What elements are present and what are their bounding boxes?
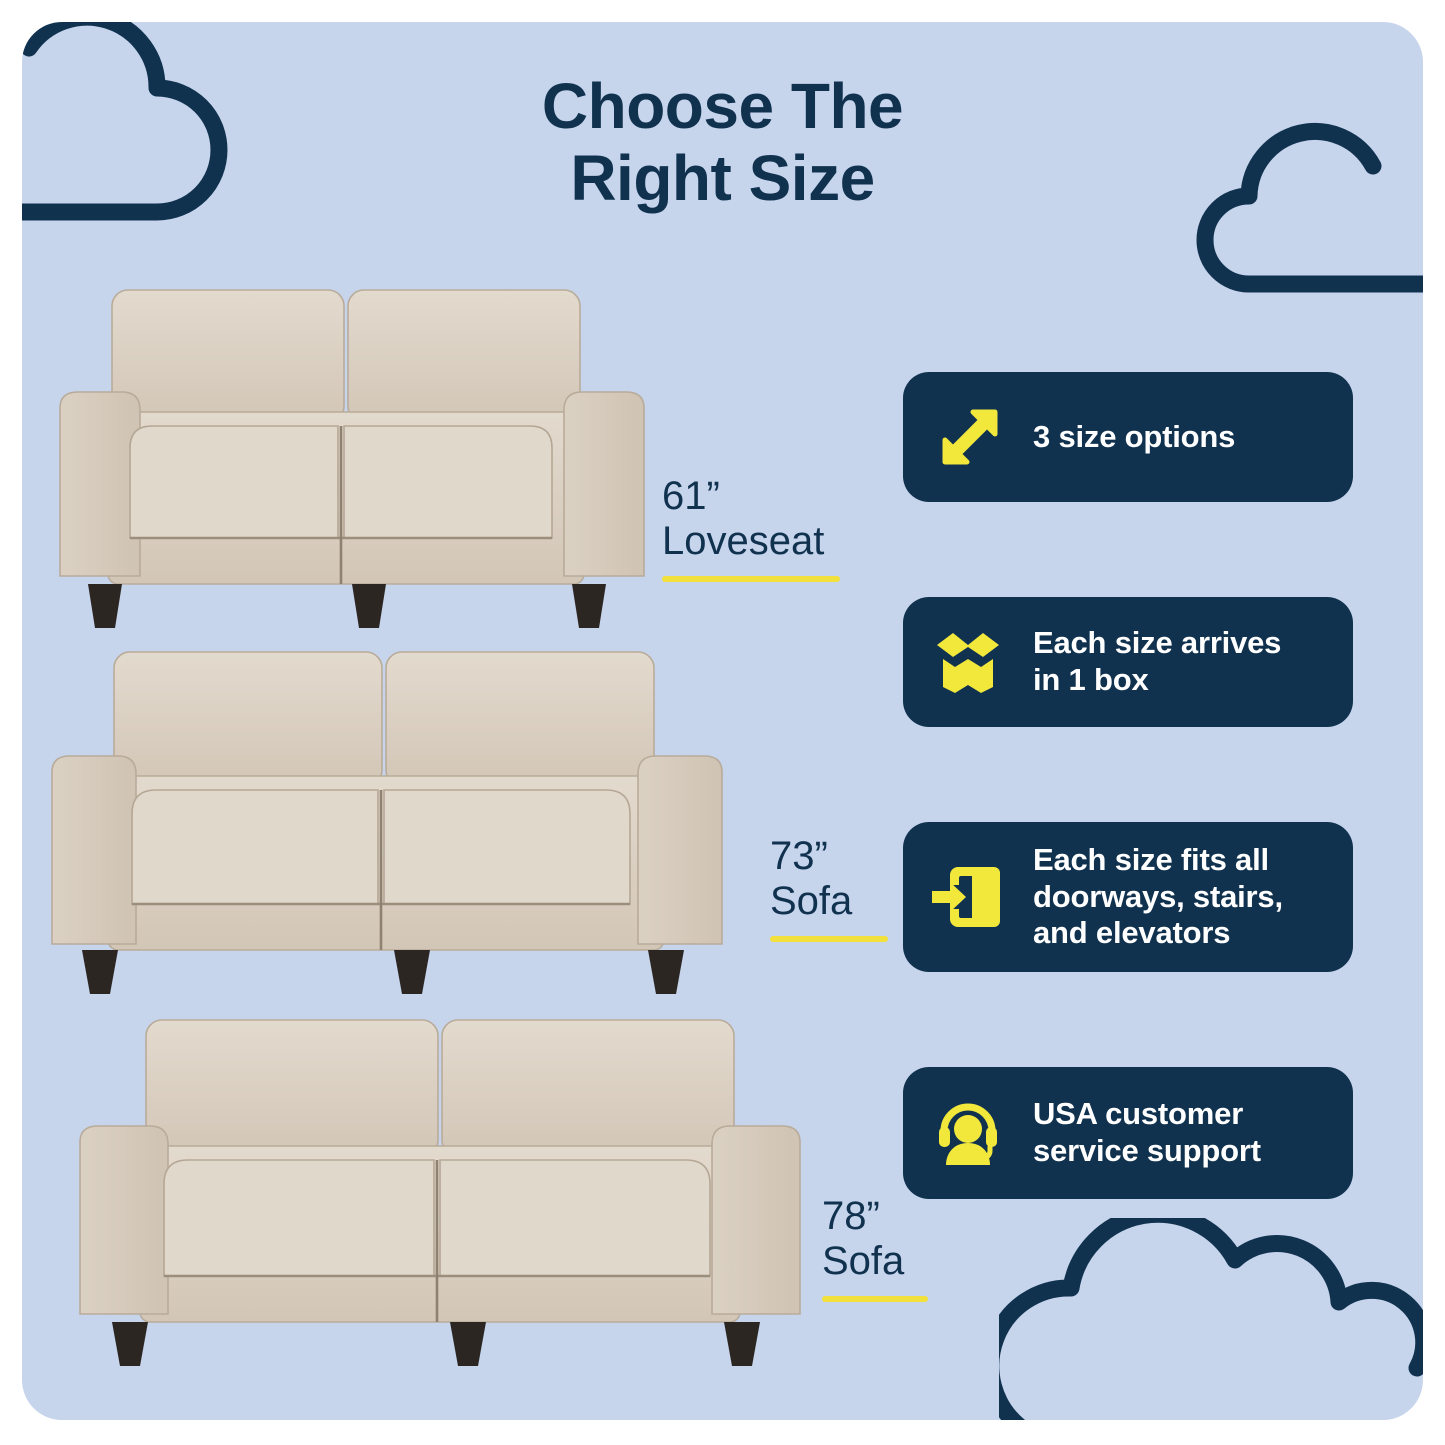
headset-support-icon	[929, 1094, 1007, 1172]
accent-underline	[822, 1296, 928, 1302]
feature-label: USA customer service support	[1033, 1096, 1261, 1169]
resize-arrows-icon	[929, 398, 1007, 476]
accent-underline	[770, 936, 888, 942]
door-entry-icon	[929, 858, 1007, 936]
sofa-illustration	[42, 642, 732, 994]
size-type: Loveseat	[662, 519, 840, 564]
size-value: 78”	[822, 1194, 928, 1239]
size-type: Sofa	[770, 879, 888, 924]
size-value: 61”	[662, 474, 840, 519]
size-label-sofa-78: 78” Sofa	[822, 1194, 928, 1302]
product-illustration-sofa-73	[42, 642, 732, 999]
feature-label: Each size arrives in 1 box	[1033, 625, 1281, 698]
product-illustration-loveseat	[52, 280, 652, 637]
size-label-sofa-73: 73” Sofa	[770, 834, 888, 942]
size-label-loveseat: 61” Loveseat	[662, 474, 840, 582]
page-title: Choose The Right Size	[22, 70, 1423, 215]
sofa-illustration	[70, 1010, 810, 1366]
feature-label: Each size fits all doorways, stairs, and…	[1033, 842, 1283, 952]
size-value: 73”	[770, 834, 888, 879]
product-illustration-sofa-78	[70, 1010, 810, 1371]
feature-card-size-options[interactable]: 3 size options	[903, 372, 1353, 502]
feature-card-fits-doorways[interactable]: Each size fits all doorways, stairs, and…	[903, 822, 1353, 972]
content-panel: Choose The Right Size	[22, 22, 1423, 1420]
accent-underline	[662, 576, 840, 582]
open-box-icon	[929, 623, 1007, 701]
infographic-canvas: Choose The Right Size	[0, 0, 1445, 1445]
feature-card-customer-support[interactable]: USA customer service support	[903, 1067, 1353, 1199]
feature-card-single-box[interactable]: Each size arrives in 1 box	[903, 597, 1353, 727]
cloud-outline-icon	[999, 1218, 1423, 1420]
sofa-illustration	[52, 280, 652, 632]
title-line-2: Right Size	[22, 142, 1423, 214]
title-line-1: Choose The	[22, 70, 1423, 142]
feature-label: 3 size options	[1033, 419, 1235, 456]
size-type: Sofa	[822, 1239, 928, 1284]
